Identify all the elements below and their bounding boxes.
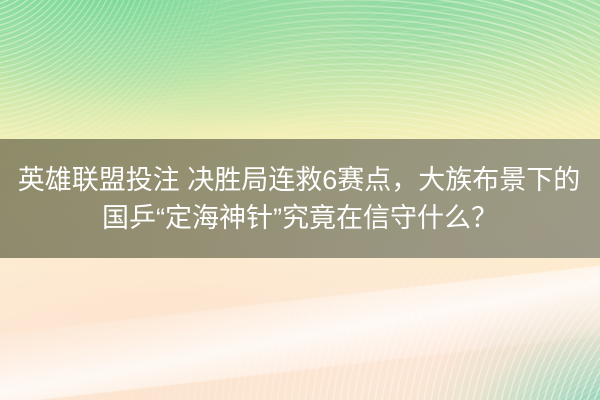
- title-line-1: 英雄联盟投注 决胜局连救6赛点，大族布景下的: [18, 161, 581, 199]
- title-line-2: 国乒“定海神针”究竟在信守什么？: [102, 199, 498, 237]
- banner-image: 英雄联盟投注 决胜局连救6赛点，大族布景下的 国乒“定海神针”究竟在信守什么？: [0, 0, 600, 400]
- title-overlay-band: 英雄联盟投注 决胜局连救6赛点，大族布景下的 国乒“定海神针”究竟在信守什么？: [0, 139, 600, 258]
